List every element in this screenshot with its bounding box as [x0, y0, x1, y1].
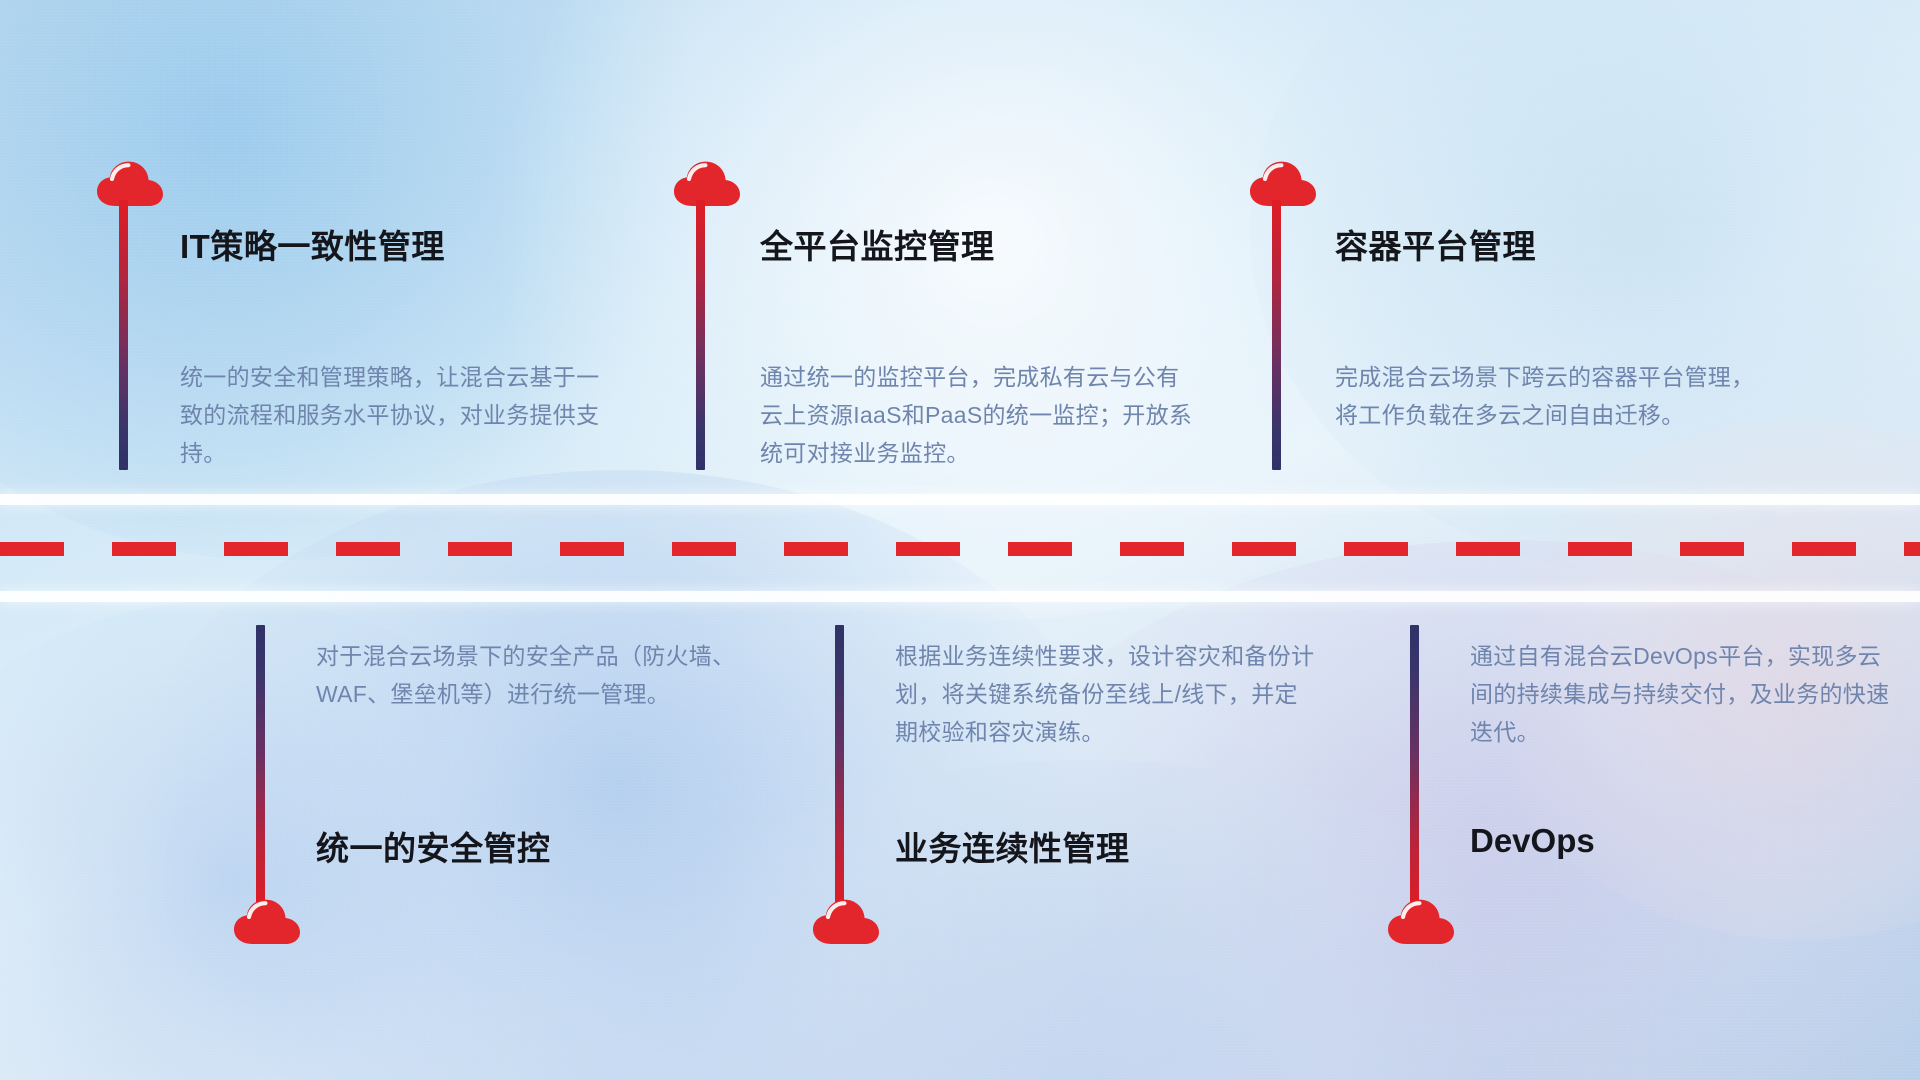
feature-title: 容器平台管理: [1335, 220, 1536, 268]
feature-description: 完成混合云场景下跨云的容器平台管理，将工作负载在多云之间自由迁移。: [1335, 358, 1765, 434]
connector-stem: [835, 625, 844, 910]
cloud-icon: [811, 898, 881, 946]
divider-rail-top: [0, 494, 1920, 505]
feature-title: 业务连续性管理: [895, 822, 1130, 870]
connector-stem: [696, 200, 705, 470]
connector-stem: [1410, 625, 1419, 910]
background-blob: [440, 0, 1540, 620]
cloud-icon: [1386, 898, 1456, 946]
feature-title: 统一的安全管控: [316, 822, 551, 870]
cloud-icon: [95, 160, 165, 208]
feature-title: DevOps: [1470, 822, 1595, 860]
divider-rail-bottom: [0, 591, 1920, 602]
feature-description: 通过自有混合云DevOps平台，实现多云间的持续集成与持续交付，及业务的快速迭代…: [1470, 637, 1890, 751]
connector-stem: [256, 625, 265, 910]
cloud-icon: [1248, 160, 1318, 208]
cloud-icon: [672, 160, 742, 208]
background-blob: [980, 540, 1920, 1080]
divider-dashed-line: [0, 542, 1920, 556]
feature-title: 全平台监控管理: [760, 220, 995, 268]
feature-description: 对于混合云场景下的安全产品（防火墙、WAF、堡垒机等）进行统一管理。: [316, 637, 736, 713]
cloud-icon: [232, 898, 302, 946]
feature-title: IT策略一致性管理: [180, 220, 445, 268]
background-blob: [0, 0, 720, 560]
feature-description: 根据业务连续性要求，设计容灾和备份计划，将关键系统备份至线上/线下，并定期校验和…: [895, 637, 1315, 751]
feature-description: 通过统一的监控平台，完成私有云与公有云上资源IaaS和PaaS的统一监控；开放系…: [760, 358, 1200, 472]
infographic-canvas: IT策略一致性管理 统一的安全和管理策略，让混合云基于一致的流程和服务水平协议，…: [0, 0, 1920, 1080]
connector-stem: [119, 200, 128, 470]
background-blob: [120, 470, 1120, 1080]
background-blob: [1250, 0, 1920, 580]
connector-stem: [1272, 200, 1281, 470]
feature-description: 统一的安全和管理策略，让混合云基于一致的流程和服务水平协议，对业务提供支持。: [180, 358, 610, 472]
